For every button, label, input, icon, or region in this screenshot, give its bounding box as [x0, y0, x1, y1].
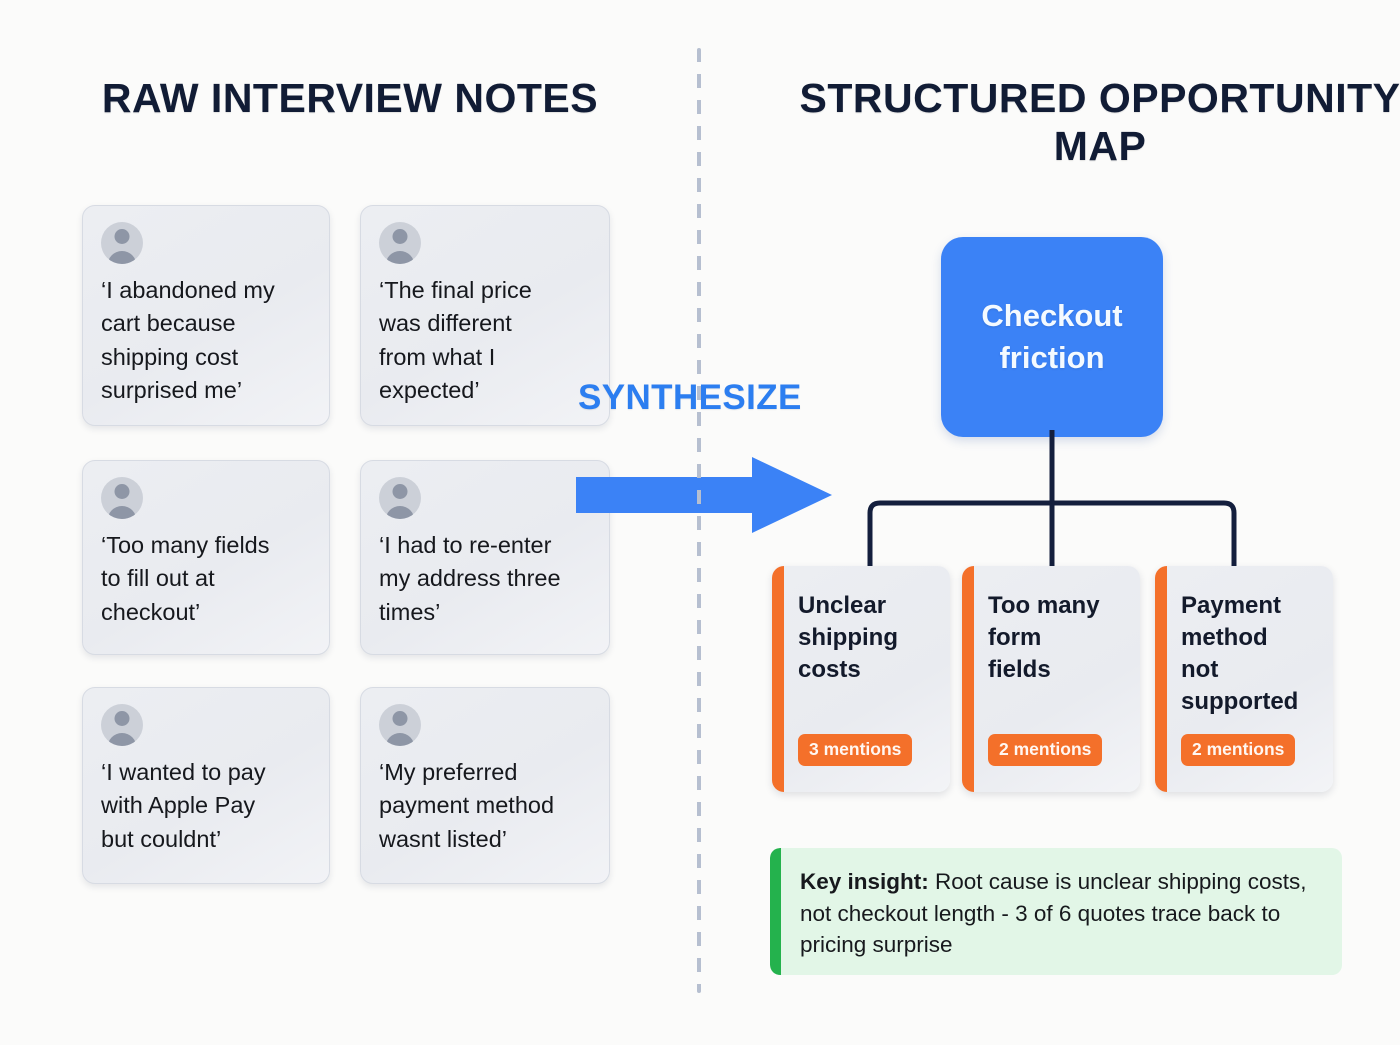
user-avatar-icon [101, 477, 143, 519]
quote-card[interactable]: ‘Too many fields to fill out at checkout… [82, 460, 330, 655]
user-avatar-icon [379, 222, 421, 264]
opportunity-label: Too many form fields [988, 590, 1130, 686]
quote-text: ‘The final price was different from what… [379, 274, 591, 407]
key-insight-label: Key insight: [800, 869, 929, 894]
user-avatar-icon [101, 704, 143, 746]
user-avatar-icon [379, 704, 421, 746]
opportunity-label: Unclear shipping costs [798, 590, 940, 686]
quote-text: ‘I wanted to pay with Apple Pay but coul… [101, 756, 311, 856]
card-accent-bar [772, 566, 784, 792]
opportunity-card[interactable]: Unclear shipping costs 3 mentions [772, 566, 950, 792]
mentions-badge: 2 mentions [1181, 734, 1295, 766]
quote-card[interactable]: ‘My preferred payment method wasnt liste… [360, 687, 610, 884]
quote-text: ‘I had to re-enter my address three time… [379, 529, 591, 629]
diagram-canvas: RAW INTERVIEW NOTES ‘I abandoned my cart… [0, 0, 1400, 1045]
root-node-checkout-friction[interactable]: Checkout friction [941, 237, 1163, 437]
structured-opportunity-map-title: STRUCTURED OPPORTUNITY MAP [790, 74, 1400, 171]
user-avatar-icon [101, 222, 143, 264]
quote-card[interactable]: ‘I wanted to pay with Apple Pay but coul… [82, 687, 330, 884]
synthesize-label: SYNTHESIZE [578, 378, 802, 418]
mentions-badge: 2 mentions [988, 734, 1102, 766]
quote-text: ‘My preferred payment method wasnt liste… [379, 756, 591, 856]
vertical-dashed-divider [697, 48, 701, 993]
quote-card[interactable]: ‘The final price was different from what… [360, 205, 610, 426]
callout-accent-bar [770, 848, 781, 975]
opportunity-card[interactable]: Too many form fields 2 mentions [962, 566, 1140, 792]
quote-card[interactable]: ‘I abandoned my cart because shipping co… [82, 205, 330, 426]
card-accent-bar [962, 566, 974, 792]
user-avatar-icon [379, 477, 421, 519]
tree-connector-lines [760, 430, 1340, 575]
quote-text: ‘Too many fields to fill out at checkout… [101, 529, 311, 629]
mentions-badge: 3 mentions [798, 734, 912, 766]
card-accent-bar [1155, 566, 1167, 792]
key-insight-text: Key insight: Root cause is unclear shipp… [800, 866, 1320, 961]
opportunity-card[interactable]: Payment method not supported 2 mentions [1155, 566, 1333, 792]
raw-interview-notes-title: RAW INTERVIEW NOTES [60, 74, 640, 122]
quote-card[interactable]: ‘I had to re-enter my address three time… [360, 460, 610, 655]
root-node-label: Checkout friction [981, 295, 1122, 379]
key-insight-callout: Key insight: Root cause is unclear shipp… [770, 848, 1342, 975]
opportunity-label: Payment method not supported [1181, 590, 1381, 719]
quote-text: ‘I abandoned my cart because shipping co… [101, 274, 311, 407]
